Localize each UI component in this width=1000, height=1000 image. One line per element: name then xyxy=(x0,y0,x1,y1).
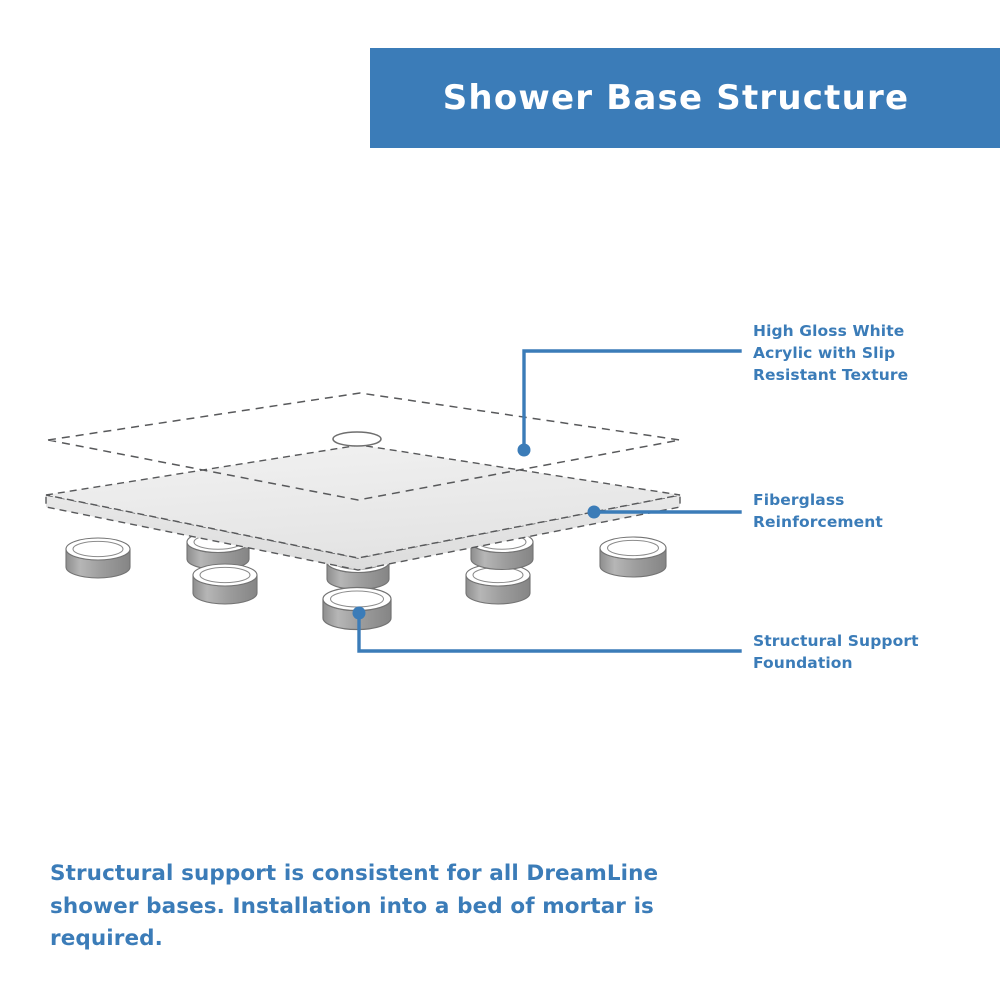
callout-label-fiberglass: Fiberglass Reinforcement xyxy=(753,489,983,533)
support-ring-anchor xyxy=(323,588,391,630)
leader-line-fiberglass xyxy=(588,506,741,519)
leader-line-support xyxy=(353,607,741,652)
leader-line-acrylic xyxy=(518,351,741,457)
fiberglass-reinforcement-layer xyxy=(46,445,680,570)
support-ring xyxy=(327,552,389,590)
drain-ellipse xyxy=(333,432,381,446)
callout-leader-lines xyxy=(353,351,741,651)
footer-caption: Structural support is consistent for all… xyxy=(50,858,700,956)
support-ring xyxy=(466,564,530,604)
callout-label-support: Structural Support Foundation xyxy=(753,630,983,674)
header-banner: Shower Base Structure xyxy=(370,48,1000,148)
support-ring xyxy=(471,532,533,570)
support-ring xyxy=(600,537,666,577)
support-ring-group xyxy=(66,532,666,630)
page-title: Shower Base Structure xyxy=(370,48,1000,148)
support-ring xyxy=(187,532,249,570)
callout-label-acrylic: High Gloss White Acrylic with Slip Resis… xyxy=(753,320,983,386)
support-ring xyxy=(66,538,130,578)
shower-base-structure-page: Shower Base Structure xyxy=(0,0,1000,1000)
acrylic-top-layer xyxy=(48,393,680,500)
support-ring xyxy=(193,564,257,604)
